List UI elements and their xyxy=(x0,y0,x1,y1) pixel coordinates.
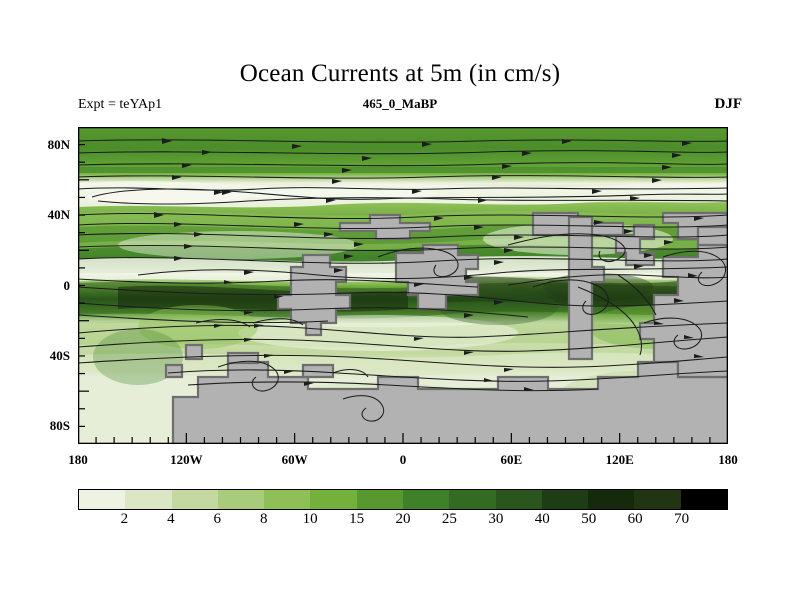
colorbar-segment xyxy=(264,490,310,509)
colorbar-segment xyxy=(79,490,125,509)
colorbar-tick-label: 40 xyxy=(535,511,550,528)
map-plot-area xyxy=(78,127,728,444)
colorbar-segment xyxy=(449,490,495,509)
colorbar-tick-label: 30 xyxy=(488,511,503,528)
colorbar-segment xyxy=(125,490,171,509)
colorbar-segment xyxy=(357,490,403,509)
x-axis-tick-labels: 180120W60W060E120E180 xyxy=(78,452,728,474)
colorbar-tick-label: 50 xyxy=(581,511,596,528)
colorbar-tick-label: 70 xyxy=(674,511,689,528)
colorbar-tick-label: 4 xyxy=(167,511,175,528)
colorbar-tick-label: 10 xyxy=(303,511,318,528)
figure-canvas: Ocean Currents at 5m (in cm/s) 465_0_MaB… xyxy=(0,0,800,600)
colorbar-segment xyxy=(634,490,680,509)
colorbar-segment xyxy=(218,490,264,509)
colorbar-tick-label: 8 xyxy=(260,511,268,528)
y-axis-tick-label: 0 xyxy=(64,278,71,294)
colorbar-tick-labels: 2468101520253040506070 xyxy=(78,511,728,535)
y-axis-tick-labels: 80N40N040S80S xyxy=(0,127,70,444)
colorbar-tick-label: 25 xyxy=(442,511,457,528)
colorbar-tick-label: 2 xyxy=(121,511,129,528)
contour-map-svg xyxy=(78,127,728,444)
colorbar-segment xyxy=(310,490,356,509)
y-axis-tick-label: 40S xyxy=(50,348,70,364)
colorbar-tick-label: 6 xyxy=(214,511,222,528)
colorbar-swatches xyxy=(78,489,728,510)
x-axis-tick-label: 60E xyxy=(500,452,522,468)
x-axis-tick-label: 120E xyxy=(606,452,634,468)
colorbar-segment xyxy=(496,490,542,509)
x-axis-tick-label: 60W xyxy=(282,452,308,468)
experiment-label: Expt = teYAp1 xyxy=(78,97,162,113)
x-axis-tick-label: 120W xyxy=(170,452,203,468)
colorbar-tick-label: 15 xyxy=(349,511,364,528)
x-axis-tick-label: 180 xyxy=(68,452,88,468)
colorbar-segment xyxy=(588,490,634,509)
colorbar-segment xyxy=(681,490,727,509)
colorbar-tick-label: 60 xyxy=(628,511,643,528)
colorbar-segment xyxy=(542,490,588,509)
x-axis-tick-label: 180 xyxy=(718,452,738,468)
colorbar-segment xyxy=(403,490,449,509)
season-label: DJF xyxy=(715,96,743,113)
colorbar-tick-label: 20 xyxy=(396,511,411,528)
y-axis-tick-label: 80N xyxy=(48,137,70,153)
x-axis-tick-label: 0 xyxy=(400,452,407,468)
y-axis-tick-label: 40N xyxy=(48,207,70,223)
page-title: Ocean Currents at 5m (in cm/s) xyxy=(0,60,800,88)
colorbar-segment xyxy=(172,490,218,509)
colorbar xyxy=(78,489,728,510)
y-axis-tick-label: 80S xyxy=(50,418,70,434)
